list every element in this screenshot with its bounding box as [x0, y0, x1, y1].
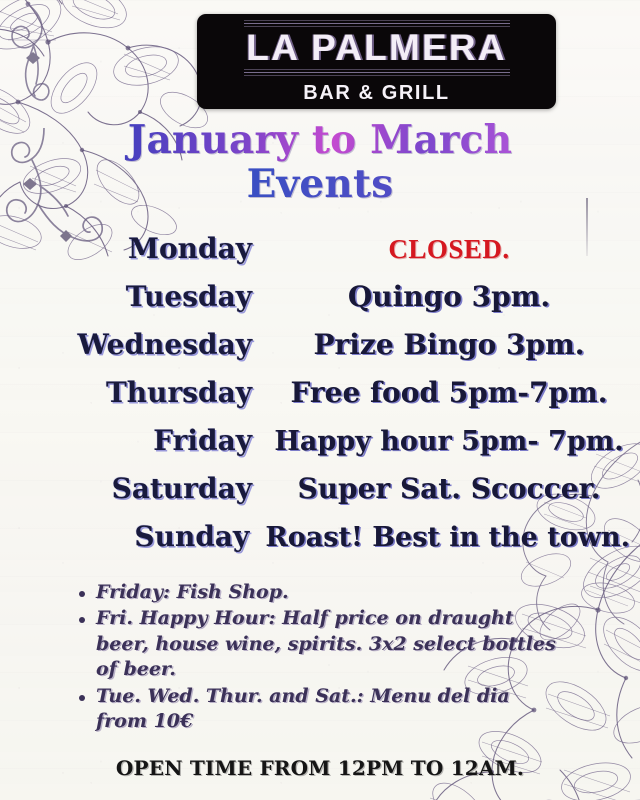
- list-item: Tue. Wed. Thur. and Sat.: Menu del dia f…: [96, 684, 566, 735]
- flourish-decoration-top-right: [0, 0, 58, 128]
- schedule-row: Saturday Super Sat. Scoccer.: [0, 472, 640, 520]
- schedule-day: Monday: [0, 232, 268, 265]
- schedule-row: Thursday Free food 5pm-7pm.: [0, 376, 640, 424]
- banner-rule-top: [244, 20, 510, 27]
- schedule-event: CLOSED.: [268, 234, 640, 265]
- schedule-day: Sunday: [0, 520, 265, 553]
- schedule-event: Happy hour 5pm- 7pm.: [268, 426, 640, 457]
- logo-banner: LA PALMERA BAR & GRILL: [197, 14, 556, 109]
- opening-hours: OPEN TIME FROM 12PM TO 12AM.: [0, 756, 640, 780]
- schedule-day: Tuesday: [0, 280, 268, 313]
- schedule-event: Roast! Best in the town.: [265, 522, 640, 553]
- headline-line-1: January to March: [0, 118, 640, 162]
- schedule-row: Tuesday Quingo 3pm.: [0, 280, 640, 328]
- schedule-day: Saturday: [0, 472, 268, 505]
- notes-list: Friday: Fish Shop. Fri. Happy Hour: Half…: [74, 580, 566, 736]
- schedule-day: Thursday: [0, 376, 268, 409]
- list-item: Fri. Happy Hour: Half price on draught b…: [96, 606, 566, 682]
- banner-rule-bottom: [244, 69, 510, 76]
- schedule-event: Free food 5pm-7pm.: [268, 376, 640, 409]
- schedule-day: Wednesday: [0, 328, 268, 361]
- event-poster: LA PALMERA BAR & GRILL January to March …: [0, 0, 640, 800]
- page-title: January to March Events: [0, 118, 640, 206]
- brand-tagline: BAR & GRILL: [303, 83, 449, 103]
- headline-line-2: Events: [0, 162, 640, 206]
- schedule-row: Sunday Roast! Best in the town.: [0, 520, 640, 568]
- schedule-row: Friday Happy hour 5pm- 7pm.: [0, 424, 640, 472]
- schedule-row: Monday CLOSED.: [0, 232, 640, 280]
- brand-name: LA PALMERA: [246, 29, 506, 66]
- schedule-event: Quingo 3pm.: [268, 280, 640, 313]
- weekly-schedule: Monday CLOSED. Tuesday Quingo 3pm. Wedne…: [0, 232, 640, 568]
- schedule-row: Wednesday Prize Bingo 3pm.: [0, 328, 640, 376]
- schedule-event: Prize Bingo 3pm.: [268, 328, 640, 361]
- schedule-day: Friday: [0, 424, 268, 457]
- schedule-event: Super Sat. Scoccer.: [268, 472, 640, 505]
- list-item: Friday: Fish Shop.: [96, 580, 566, 605]
